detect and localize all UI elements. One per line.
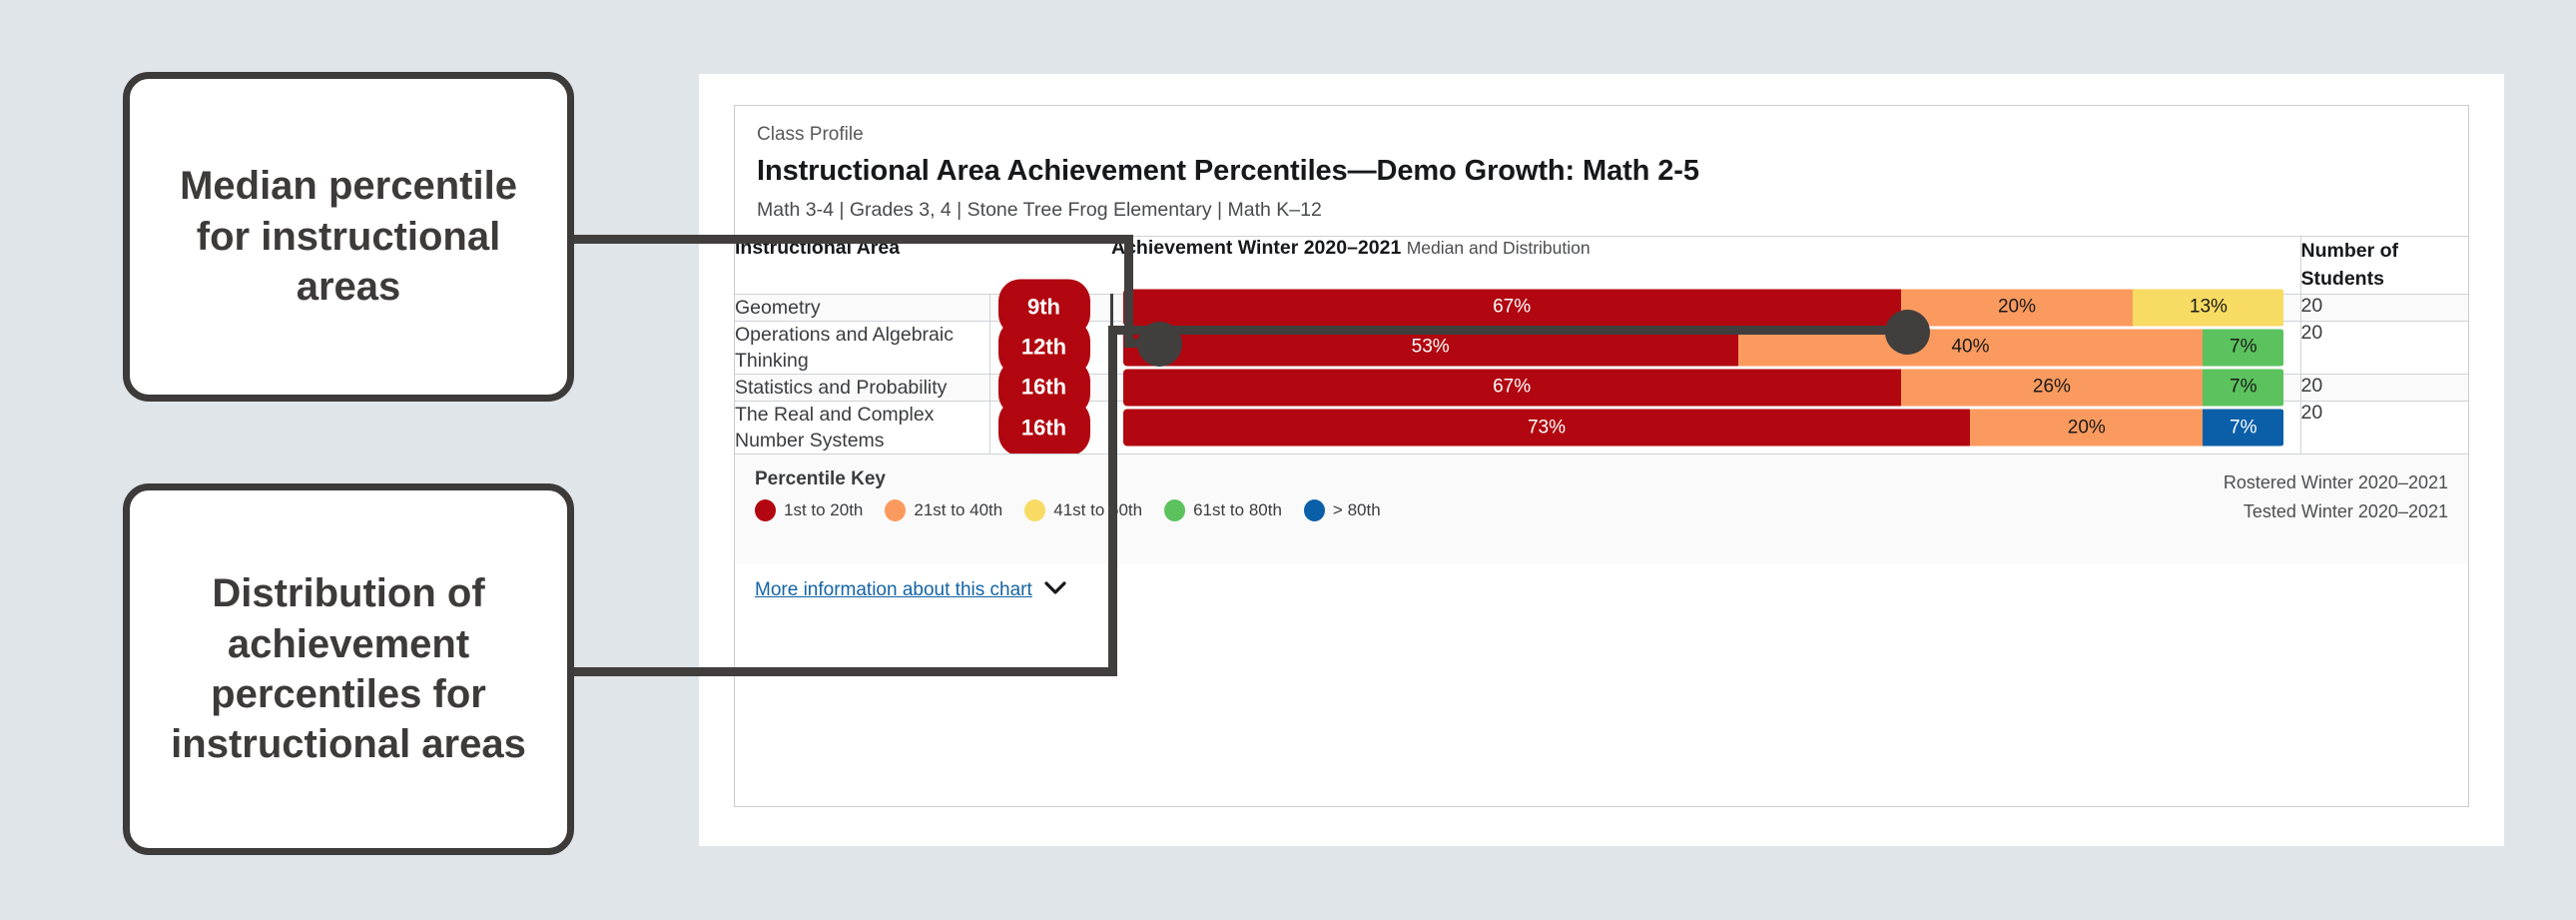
chevron-down-icon (1044, 579, 1066, 601)
legend-color-dot (1024, 499, 1045, 521)
cell-median-percentile: 9th (989, 294, 1111, 321)
cell-instructional-area: Geometry (735, 294, 989, 321)
legend-color-dot (755, 499, 776, 521)
table-row: Statistics and Probability16th67%26%7%20 (735, 374, 2468, 401)
page-title: Instructional Area Achievement Percentil… (757, 155, 2446, 188)
legend-color-dot (1304, 499, 1325, 521)
cell-distribution: 67%26%7% (1111, 374, 2300, 401)
connector-distribution-endpoint-dot (1885, 310, 1930, 355)
distribution-bar-segment: 7% (2203, 329, 2283, 366)
legend-label: > 80th (1333, 500, 1381, 520)
column-header-achievement: Achievement Winter 2020–2021 Median and … (1111, 237, 2300, 295)
connector-median-endpoint-dot (1137, 322, 1182, 367)
cell-median-percentile: 16th (989, 402, 1111, 455)
cell-instructional-area: Statistics and Probability (735, 374, 989, 401)
cell-instructional-area: The Real and Complex Number Systems (735, 402, 989, 455)
callout-distribution-text: Distribution of achievement percentiles … (156, 568, 541, 770)
cell-distribution: 67%20%13% (1111, 294, 2300, 321)
table-row: The Real and Complex Number Systems16th7… (735, 402, 2468, 455)
rostered-label: Rostered Winter 2020–2021 (2224, 468, 2448, 496)
instructional-area-chart-card: Class Profile Instructional Area Achieve… (734, 105, 2469, 807)
legend-item: 21st to 40th (885, 499, 1002, 521)
legend-label: 21st to 40th (914, 500, 1002, 520)
callout-median-percentile: Median percentile for instructional area… (123, 72, 574, 402)
more-information-label: More information about this chart (755, 579, 1032, 601)
card-header: Class Profile Instructional Area Achieve… (735, 106, 2468, 236)
report-eyebrow: Class Profile (757, 124, 2446, 146)
distribution-bar-segment: 20% (1970, 410, 2203, 447)
legend-color-dot (885, 499, 906, 521)
callout-median-text: Median percentile for instructional area… (164, 161, 533, 312)
column-header-achievement-main: Achievement Winter 2020–2021 (1111, 237, 1401, 259)
cell-number-of-students: 20 (2300, 374, 2468, 401)
legend-item: > 80th (1304, 499, 1381, 521)
more-information-link[interactable]: More information about this chart (755, 579, 1066, 601)
connector-distribution-top (1108, 326, 1908, 335)
tested-label: Tested Winter 2020–2021 (2224, 497, 2448, 525)
cell-number-of-students: 20 (2300, 321, 2468, 374)
table-header-row: Instructional Area Achievement Winter 20… (735, 237, 2468, 295)
table-body: Geometry9th67%20%13%20Operations and Alg… (735, 294, 2468, 454)
connector-median-horizontal (569, 235, 1133, 244)
distribution-bar-segment: 73% (1123, 410, 1971, 447)
cell-median-percentile: 16th (989, 374, 1111, 401)
cell-instructional-area: Operations and Algebraic Thinking (735, 321, 989, 374)
legend-color-dot (1164, 499, 1185, 521)
legend-item: 1st to 20th (755, 499, 863, 521)
footer-right-meta: Rostered Winter 2020–2021 Tested Winter … (2224, 468, 2448, 525)
percentile-legend: 1st to 20th21st to 40th41st to 60th61st … (755, 499, 2448, 521)
chart-footer: Percentile Key 1st to 20th21st to 40th41… (735, 454, 2468, 563)
legend-item: 61st to 80th (1164, 499, 1282, 521)
column-header-instructional-area: Instructional Area (735, 237, 989, 295)
cell-number-of-students: 20 (2300, 294, 2468, 321)
table-row: Geometry9th67%20%13%20 (735, 294, 2468, 321)
distribution-bar-segment: 7% (2203, 410, 2283, 447)
legend-title: Percentile Key (755, 468, 2448, 490)
legend-label: 61st to 80th (1193, 500, 1282, 520)
instructional-area-table: Instructional Area Achievement Winter 20… (735, 236, 2468, 454)
median-percentile-badge: 16th (998, 400, 1090, 457)
callout-distribution: Distribution of achievement percentiles … (123, 483, 574, 855)
legend-item: 41st to 60th (1024, 499, 1142, 521)
report-subtitle: Math 3-4 | Grades 3, 4 | Stone Tree Frog… (757, 199, 2446, 222)
legend-label: 41st to 60th (1053, 500, 1142, 520)
column-header-achievement-sub: Median and Distribution (1407, 238, 1591, 258)
connector-distribution-horizontal (569, 667, 1116, 676)
legend-label: 1st to 20th (784, 500, 863, 520)
cell-distribution: 73%20%7% (1111, 402, 2300, 455)
connector-distribution-vertical (1108, 326, 1117, 676)
column-header-number-of-students: Number of Students (2300, 237, 2468, 295)
distribution-bar: 73%20%7% (1123, 410, 2284, 447)
cell-number-of-students: 20 (2300, 402, 2468, 455)
